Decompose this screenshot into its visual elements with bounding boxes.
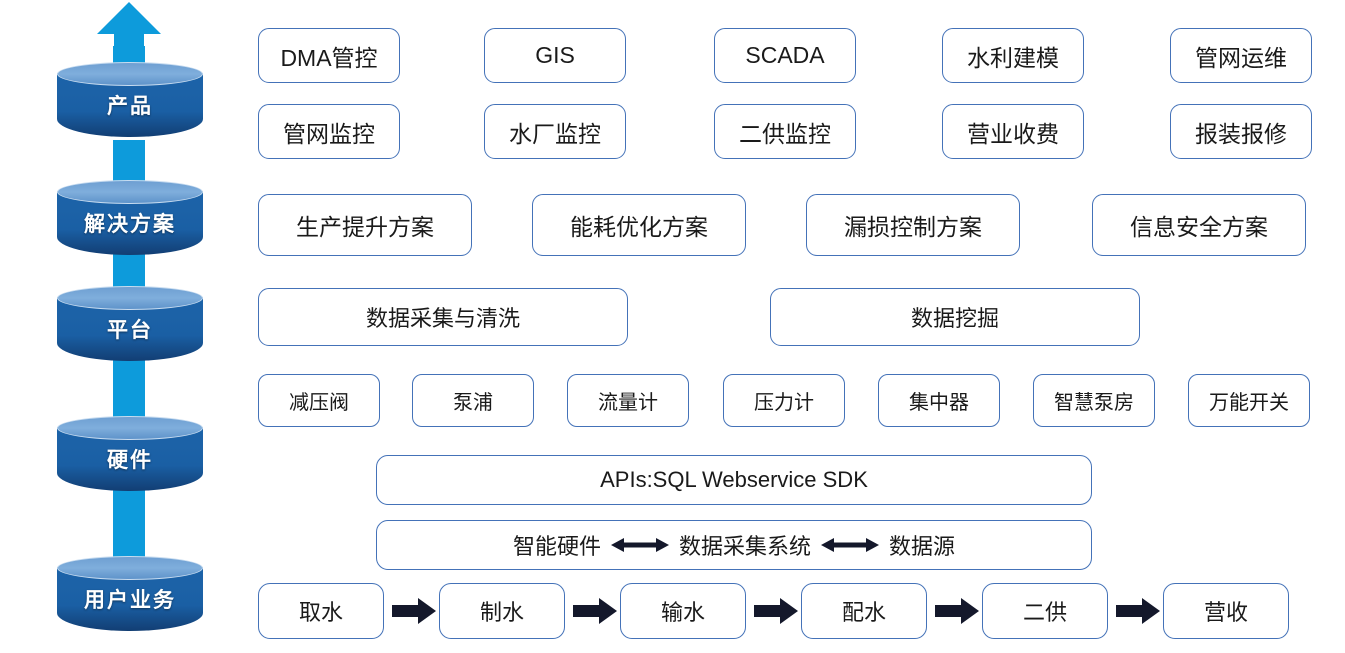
flow-box-revenue[interactable]: 营收 xyxy=(1163,583,1289,639)
layer-cylinder-business[interactable]: 用户业务 xyxy=(57,556,203,638)
hardware-box-flow-meter[interactable]: 流量计 xyxy=(567,374,689,427)
flow-arrow-icon-4 xyxy=(935,596,979,626)
product-box-gis[interactable]: GIS xyxy=(484,28,626,83)
layer-label-solution: 解决方案 xyxy=(57,208,203,238)
data-pipeline-segment-smart-hardware: 智能硬件 xyxy=(509,529,605,561)
flow-arrow-icon-2 xyxy=(573,596,617,626)
flow-box-transmission[interactable]: 输水 xyxy=(620,583,746,639)
flow-arrow-icon-5 xyxy=(1116,596,1160,626)
flow-arrow-icon-1 xyxy=(392,596,436,626)
hardware-box-pressure-gauge[interactable]: 压力计 xyxy=(723,374,845,427)
layer-label-product: 产品 xyxy=(57,90,203,120)
platform-box-data-mining[interactable]: 数据挖掘 xyxy=(770,288,1140,346)
layer-label-hardware: 硬件 xyxy=(57,444,203,474)
layer-cylinder-platform[interactable]: 平台 xyxy=(57,286,203,368)
data-pipeline-segment-data-source: 数据源 xyxy=(885,529,959,561)
flow-box-distribution[interactable]: 配水 xyxy=(801,583,927,639)
hardware-box-smart-pump-house[interactable]: 智慧泵房 xyxy=(1033,374,1155,427)
solution-box-information-security[interactable]: 信息安全方案 xyxy=(1092,194,1306,256)
product-box-billing[interactable]: 营业收费 xyxy=(942,104,1084,159)
diagram-canvas: 产品 解决方案 平台 硬件 用户业务 DMA管控 GIS SCADA 水利建模 xyxy=(0,0,1345,653)
double-arrow-icon xyxy=(611,535,669,555)
solution-box-production-improvement[interactable]: 生产提升方案 xyxy=(258,194,472,256)
layer-cylinder-product[interactable]: 产品 xyxy=(57,62,203,144)
cylinder-top-ellipse xyxy=(57,556,203,580)
data-pipeline-bar[interactable]: 智能硬件 数据采集系统 数据源 xyxy=(376,520,1092,570)
hardware-box-concentrator[interactable]: 集中器 xyxy=(878,374,1000,427)
hardware-box-pressure-reducing-valve[interactable]: 减压阀 xyxy=(258,374,380,427)
flow-arrow-icon-3 xyxy=(754,596,798,626)
content-area: DMA管控 GIS SCADA 水利建模 管网运维 管网监控 水厂监控 二供监控… xyxy=(236,0,1345,653)
product-box-hydraulic-modeling[interactable]: 水利建模 xyxy=(942,28,1084,83)
hardware-box-pump[interactable]: 泵浦 xyxy=(412,374,534,427)
cylinder-top-ellipse xyxy=(57,416,203,440)
cylinder-top-ellipse xyxy=(57,62,203,86)
platform-box-data-acquisition-cleansing[interactable]: 数据采集与清洗 xyxy=(258,288,628,346)
flow-box-intake[interactable]: 取水 xyxy=(258,583,384,639)
double-arrow-icon xyxy=(821,535,879,555)
layer-label-platform: 平台 xyxy=(57,314,203,344)
cylinder-top-ellipse xyxy=(57,286,203,310)
solution-box-energy-optimization[interactable]: 能耗优化方案 xyxy=(532,194,746,256)
layer-cylinder-solution[interactable]: 解决方案 xyxy=(57,180,203,262)
product-box-pipe-network-monitor[interactable]: 管网监控 xyxy=(258,104,400,159)
connector-bar-3 xyxy=(113,360,145,420)
solution-box-leakage-control[interactable]: 漏损控制方案 xyxy=(806,194,1020,256)
product-box-install-repair[interactable]: 报装报修 xyxy=(1170,104,1312,159)
flow-box-treatment[interactable]: 制水 xyxy=(439,583,565,639)
layer-cylinder-hardware[interactable]: 硬件 xyxy=(57,416,203,498)
product-box-dma[interactable]: DMA管控 xyxy=(258,28,400,83)
flow-box-secondary-supply[interactable]: 二供 xyxy=(982,583,1108,639)
product-box-plant-monitor[interactable]: 水厂监控 xyxy=(484,104,626,159)
hardware-box-universal-switch[interactable]: 万能开关 xyxy=(1188,374,1310,427)
api-bar[interactable]: APIs:SQL Webservice SDK xyxy=(376,455,1092,505)
product-box-secondary-supply-monitor[interactable]: 二供监控 xyxy=(714,104,856,159)
layer-stack: 产品 解决方案 平台 硬件 用户业务 xyxy=(0,0,236,653)
data-pipeline-segment-collection-system: 数据采集系统 xyxy=(675,529,815,561)
product-box-scada[interactable]: SCADA xyxy=(714,28,856,83)
cylinder-top-ellipse xyxy=(57,180,203,204)
product-box-pipe-network-om[interactable]: 管网运维 xyxy=(1170,28,1312,83)
layer-label-business: 用户业务 xyxy=(57,584,203,614)
data-pipeline-bar-content: 智能硬件 数据采集系统 数据源 xyxy=(377,521,1091,569)
